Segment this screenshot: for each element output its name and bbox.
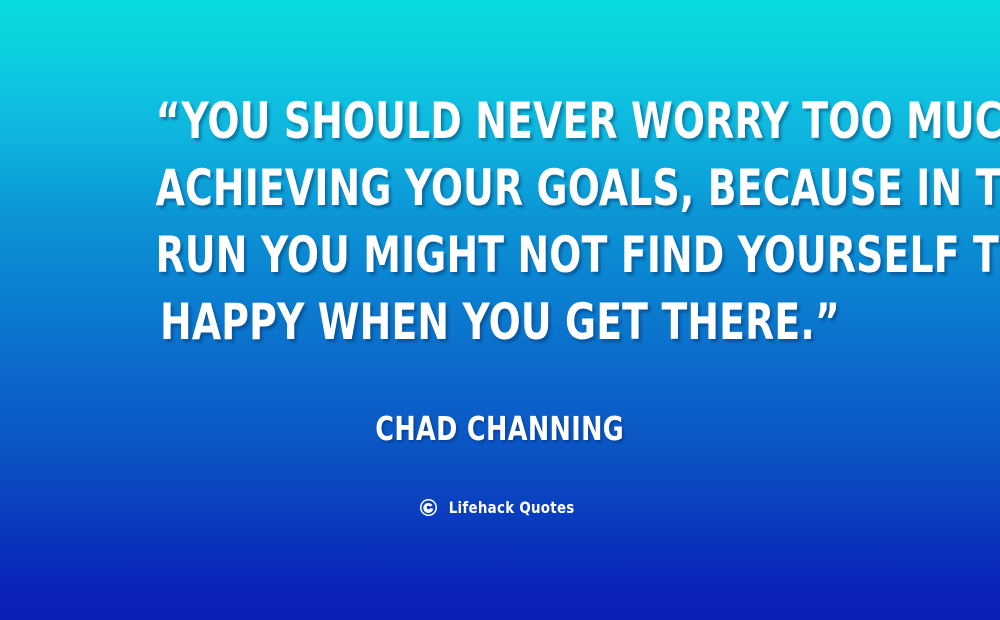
quote-text: “YOU SHOULD NEVER WORRY TOO MUCH ABOUT A… (90, 88, 910, 356)
brand-footer: Lifehack Quotes (420, 499, 579, 516)
quote-line: “YOU SHOULD NEVER WORRY TOO MUCH ABOUT (156, 88, 845, 155)
brand-name: Lifehack Quotes (449, 499, 575, 516)
quote-author: CHAD CHANNING (376, 412, 625, 446)
quote-line: RUN YOU MIGHT NOT FIND YOURSELF TOO (156, 222, 845, 289)
quote-line: ACHIEVING YOUR GOALS, BECAUSE IN THE LON… (156, 155, 845, 222)
lifehack-circle-logo-icon (420, 499, 437, 516)
quote-line: HAPPY WHEN YOU GET THERE.” (156, 289, 845, 356)
quote-card: “YOU SHOULD NEVER WORRY TOO MUCH ABOUT A… (0, 0, 1000, 620)
